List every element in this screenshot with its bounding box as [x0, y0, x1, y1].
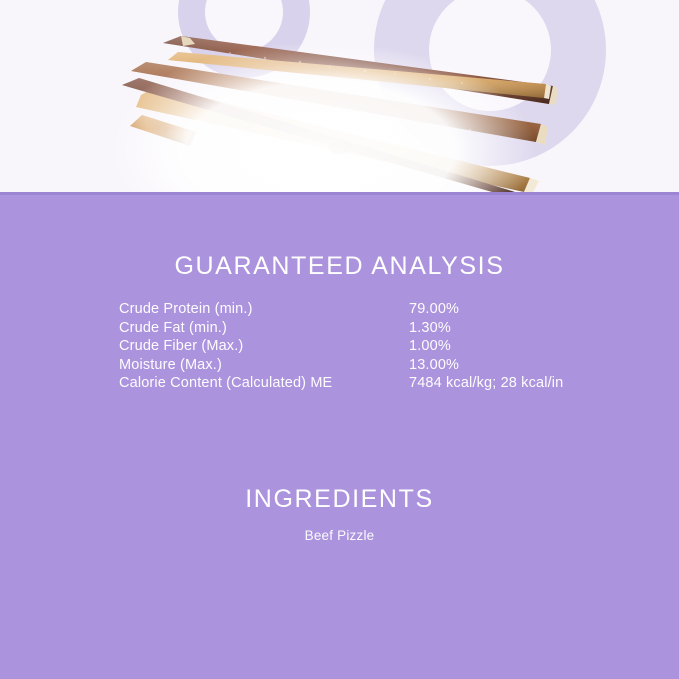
ingredients-heading: INGREDIENTS	[0, 485, 679, 514]
analysis-value: 13.00%	[409, 357, 459, 373]
table-row: Crude Fat (min.) 1.30%	[119, 320, 569, 339]
guaranteed-analysis-table: Crude Protein (min.) 79.00% Crude Fat (m…	[119, 301, 569, 394]
ingredients-text: Beef Pizzle	[0, 528, 679, 543]
band-top-divider	[0, 192, 679, 195]
analysis-label: Calorie Content (Calculated) ME	[119, 375, 409, 391]
analysis-label: Crude Fiber (Max.)	[119, 338, 409, 354]
analysis-value: 79.00%	[409, 301, 459, 317]
analysis-value: 7484 kcal/kg; 28 kcal/in	[409, 375, 563, 391]
analysis-label: Moisture (Max.)	[119, 357, 409, 373]
guaranteed-analysis-heading: GUARANTEED ANALYSIS	[0, 252, 679, 281]
bully-sticks-illustration	[0, 0, 679, 192]
stick-branch-stub	[130, 115, 196, 146]
analysis-label: Crude Fat (min.)	[119, 320, 409, 336]
table-row: Moisture (Max.) 13.00%	[119, 357, 569, 376]
analysis-value: 1.00%	[409, 338, 451, 354]
analysis-value: 1.30%	[409, 320, 451, 336]
table-row: Crude Fiber (Max.) 1.00%	[119, 338, 569, 357]
product-info-panel: GUARANTEED ANALYSIS Crude Protein (min.)…	[0, 0, 679, 679]
hero-product-image	[0, 0, 679, 192]
analysis-label: Crude Protein (min.)	[119, 301, 409, 317]
table-row: Calorie Content (Calculated) ME 7484 kca…	[119, 375, 569, 394]
table-row: Crude Protein (min.) 79.00%	[119, 301, 569, 320]
